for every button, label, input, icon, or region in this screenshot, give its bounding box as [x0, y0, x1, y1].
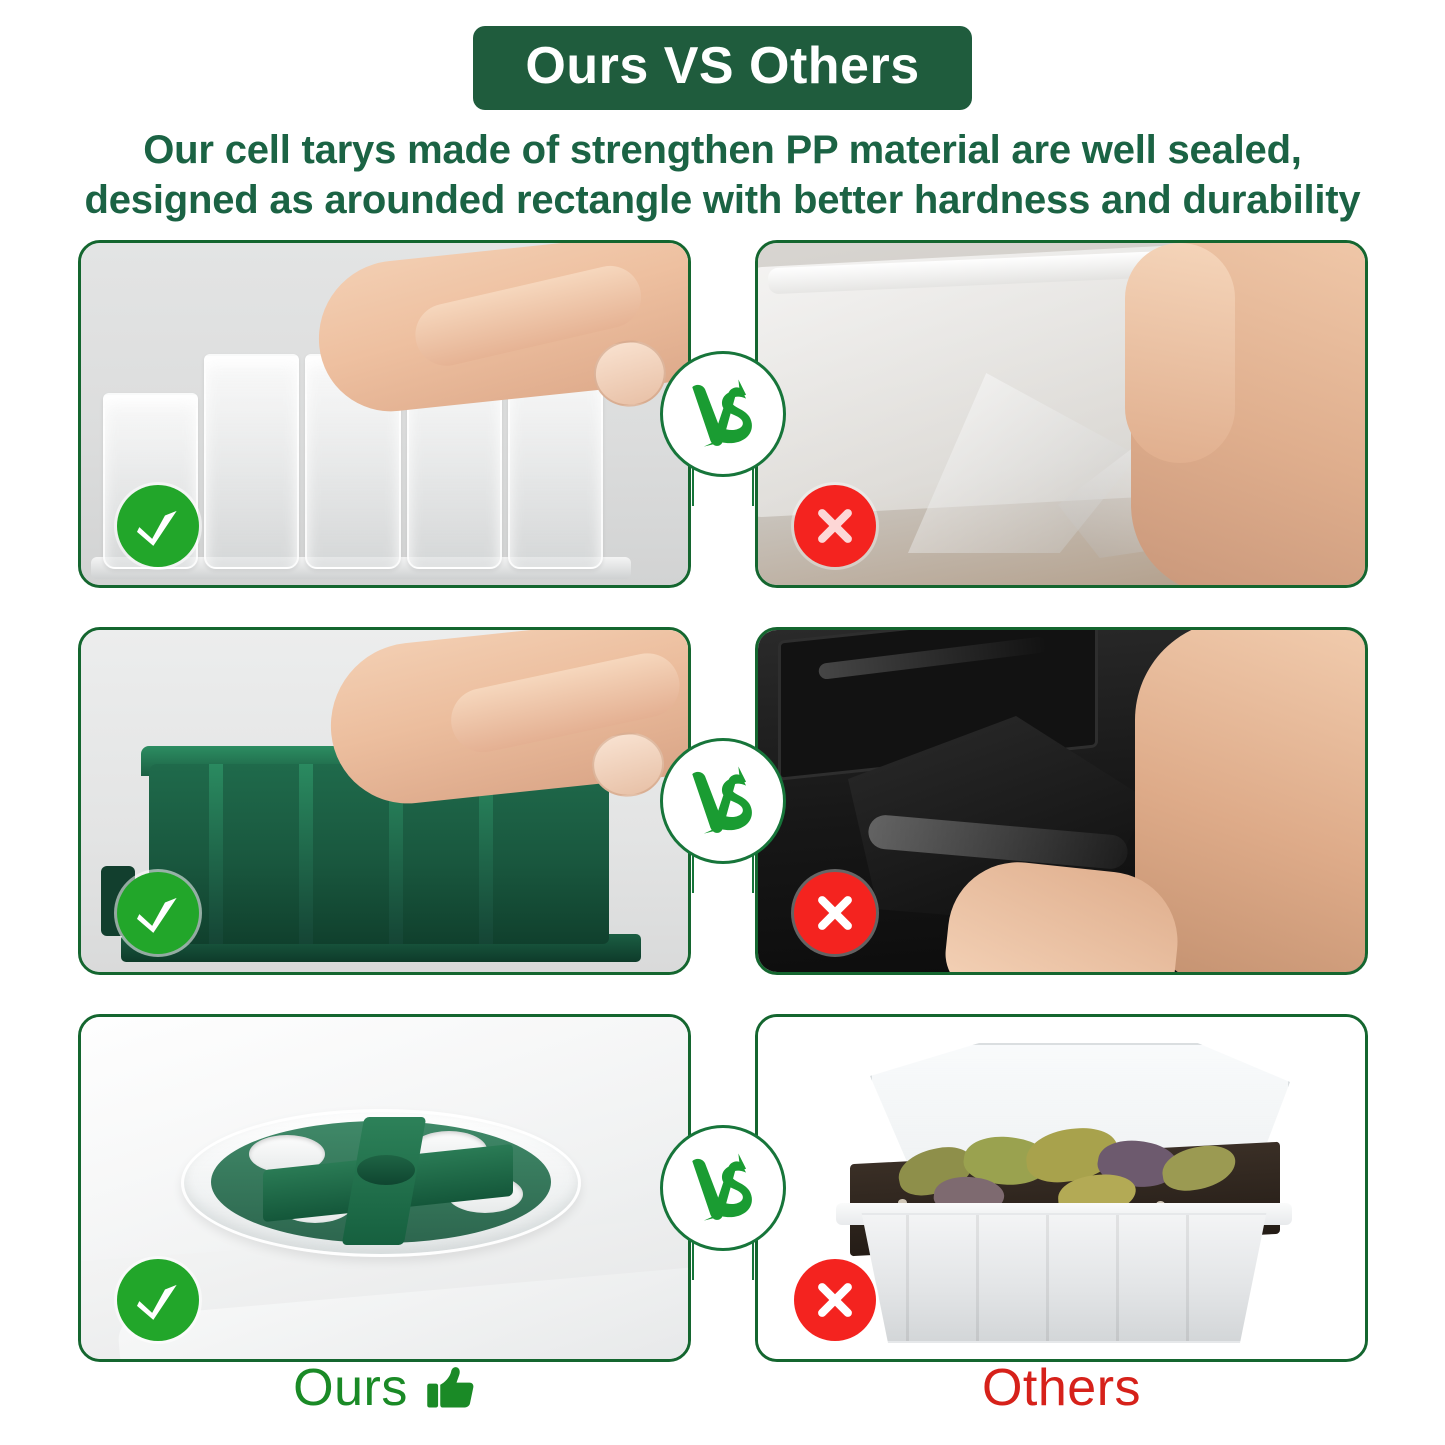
subtitle-line-1: Our cell tarys made of strengthen PP mat… [52, 126, 1393, 176]
ours-photo-panel-3 [78, 1014, 691, 1362]
cross-badge [794, 1259, 876, 1341]
page-title: Ours VS Others [473, 26, 971, 110]
others-photo-panel-1 [755, 240, 1368, 588]
comparison-row-2 [78, 627, 1368, 975]
thumbs-up-icon [424, 1362, 476, 1414]
ours-label-text: Ours [293, 1358, 408, 1418]
others-photo-panel-2 [755, 627, 1368, 975]
page-header: Ours VS Others Our cell tarys made of st… [0, 0, 1445, 225]
others-label-text: Others [982, 1358, 1141, 1418]
comparison-row-1 [78, 240, 1368, 588]
page-subtitle: Our cell tarys made of strengthen PP mat… [0, 126, 1445, 225]
ours-photo-panel-1 [78, 240, 691, 588]
check-badge [117, 872, 199, 954]
ours-footer-label: Ours [78, 1358, 691, 1418]
cross-badge [794, 485, 876, 567]
subtitle-line-2: designed as arounded rectangle with bett… [52, 176, 1393, 226]
vs-badge-2 [660, 738, 786, 864]
vs-badge-1 [660, 351, 786, 477]
comparison-grid [78, 240, 1368, 1401]
others-footer-label: Others [755, 1358, 1368, 1418]
ours-photo-panel-2 [78, 627, 691, 975]
vs-badge-3 [660, 1125, 786, 1251]
check-badge [117, 1259, 199, 1341]
page-footer: Ours Others [78, 1358, 1368, 1418]
comparison-row-3 [78, 1014, 1368, 1362]
cross-badge [794, 872, 876, 954]
others-photo-panel-3 [755, 1014, 1368, 1362]
check-badge [117, 485, 199, 567]
